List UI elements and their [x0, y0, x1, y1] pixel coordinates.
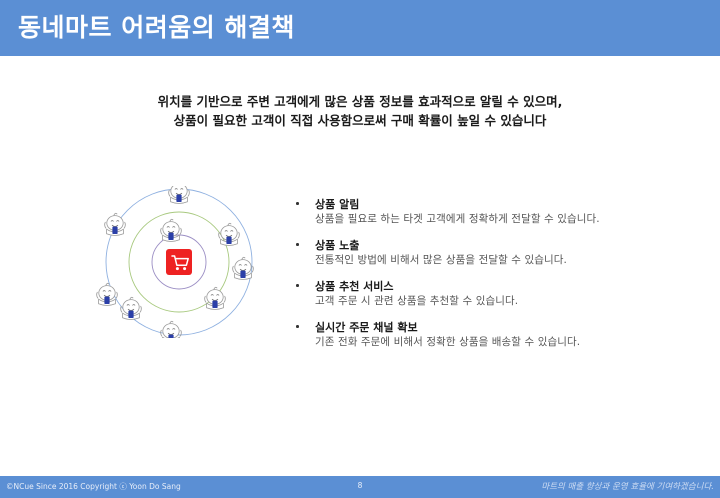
bullet-dot-icon: [296, 325, 299, 328]
subtitle: 위치를 기반으로 주변 고객에게 많은 상품 정보를 효과적으로 알릴 수 있으…: [0, 92, 720, 130]
list-item-desc: 기존 전화 주문에 비해서 정확한 상품을 배송할 수 있습니다.: [315, 335, 710, 350]
list-item-desc: 고객 주문 시 관련 상품을 추천할 수 있습니다.: [315, 294, 710, 309]
orbit-diagram: [93, 186, 265, 338]
list-item-desc: 전통적인 방법에 비해서 많은 상품을 전달할 수 있습니다.: [315, 253, 710, 268]
bullet-dot-icon: [296, 202, 299, 205]
list-item-title: 상품 알림: [315, 197, 710, 212]
page-title: 동네마트 어려움의 해결책: [18, 10, 295, 46]
list-item: 상품 추천 서비스 고객 주문 시 관련 상품을 추천할 수 있습니다.: [290, 279, 710, 309]
benefits-list: 상품 알림 상품을 필요로 하는 타겟 고객에게 정확하게 전달할 수 있습니다…: [290, 197, 710, 361]
subtitle-line-2: 상품이 필요한 고객이 직접 사용함으로써 구매 확률이 높일 수 있습니다: [0, 111, 720, 130]
list-item-title: 실시간 주문 채널 확보: [315, 320, 710, 335]
footer-band: ©NCue Since 2016 Copyright ⓒ Yoon Do San…: [0, 476, 720, 498]
list-item-desc: 상품을 필요로 하는 타겟 고객에게 정확하게 전달할 수 있습니다.: [315, 212, 710, 227]
footer-tagline: 마트의 매출 향상과 운영 효율에 기여하겠습니다.: [541, 480, 714, 492]
shopping-cart-icon: [166, 249, 192, 275]
list-item: 상품 노출 전통적인 방법에 비해서 많은 상품을 전달할 수 있습니다.: [290, 238, 710, 268]
subtitle-line-1: 위치를 기반으로 주변 고객에게 많은 상품 정보를 효과적으로 알릴 수 있으…: [0, 92, 720, 111]
list-item: 실시간 주문 채널 확보 기존 전화 주문에 비해서 정확한 상품을 배송할 수…: [290, 320, 710, 350]
list-item-title: 상품 추천 서비스: [315, 279, 710, 294]
list-item-title: 상품 노출: [315, 238, 710, 253]
slide: 동네마트 어려움의 해결책 위치를 기반으로 주변 고객에게 많은 상품 정보를…: [0, 0, 720, 498]
bullet-dot-icon: [296, 243, 299, 246]
list-item: 상품 알림 상품을 필요로 하는 타겟 고객에게 정확하게 전달할 수 있습니다…: [290, 197, 710, 227]
bullet-dot-icon: [296, 284, 299, 287]
